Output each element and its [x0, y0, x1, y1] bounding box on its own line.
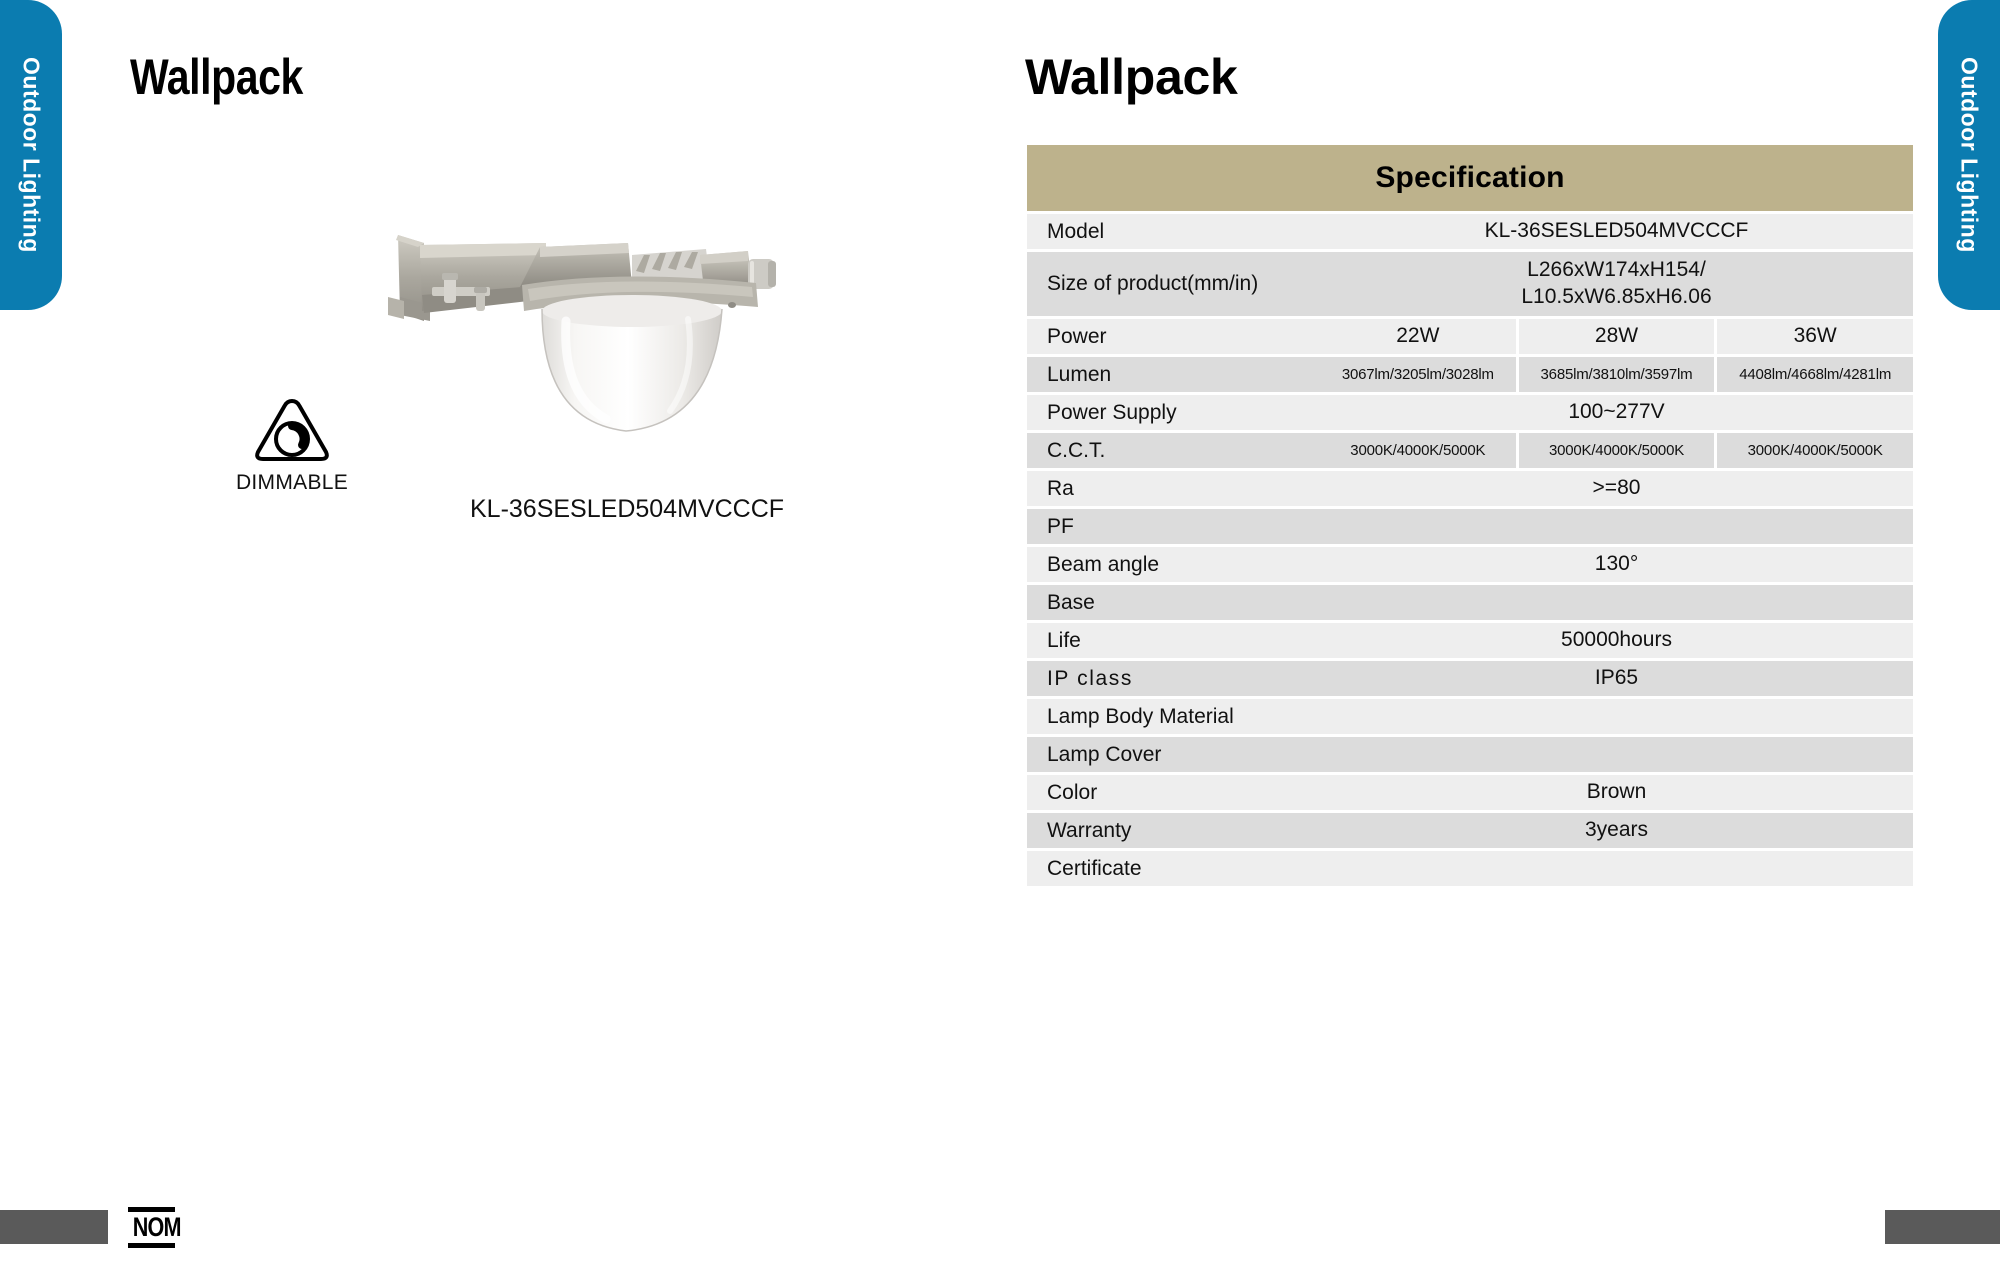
product-image — [370, 225, 800, 455]
spec-row: Lumen3067lm/3205lm/3028lm3685lm/3810lm/3… — [1027, 357, 1913, 392]
spec-row-value — [1320, 851, 1913, 886]
spec-row-values — [1320, 737, 1913, 772]
spec-row-label: Beam angle — [1027, 547, 1320, 582]
spec-row-label: Model — [1027, 214, 1320, 249]
page-title-left: Wallpack — [130, 48, 303, 106]
spec-row-value: 3000K/4000K/5000K — [1717, 433, 1913, 468]
spec-row-value: 36W — [1717, 319, 1913, 354]
spec-row-value: 3years — [1320, 813, 1913, 848]
side-tab-right: Outdoor Lighting — [1938, 0, 2000, 310]
specification-table-body: ModelKL-36SESLED504MVCCCFSize of product… — [1027, 214, 1913, 886]
spec-row: Ra>=80 — [1027, 471, 1913, 506]
spec-row-value: 3067lm/3205lm/3028lm — [1320, 357, 1516, 392]
spec-row: Power22W28W36W — [1027, 319, 1913, 354]
spec-row-values: 3years — [1320, 813, 1913, 848]
spec-row-label: PF — [1027, 509, 1320, 544]
spec-row: Lamp Body Material — [1027, 699, 1913, 734]
spec-row-values: KL-36SESLED504MVCCCF — [1320, 214, 1913, 249]
spec-row-label: Size of product(mm/in) — [1027, 252, 1320, 316]
spec-row-value: 3000K/4000K/5000K — [1519, 433, 1715, 468]
spec-row-label: Power — [1027, 319, 1320, 354]
spec-row: ColorBrown — [1027, 775, 1913, 810]
spec-row: Base — [1027, 585, 1913, 620]
spec-row-value — [1320, 509, 1913, 544]
spec-row-value: IP65 — [1320, 661, 1913, 696]
spec-row-values — [1320, 699, 1913, 734]
spec-row: IP classIP65 — [1027, 661, 1913, 696]
spec-row-label: Power Supply — [1027, 395, 1320, 430]
spec-row-value — [1320, 699, 1913, 734]
spec-row-values: L266xW174xH154/ L10.5xW6.85xH6.06 — [1320, 252, 1913, 316]
footer-bar-left — [0, 1210, 108, 1244]
spec-row-label: Lamp Cover — [1027, 737, 1320, 772]
spec-row-label: Certificate — [1027, 851, 1320, 886]
spec-row-values: 3000K/4000K/5000K3000K/4000K/5000K3000K/… — [1320, 433, 1913, 468]
spec-row-value: 130° — [1320, 547, 1913, 582]
spec-row-values: 100~277V — [1320, 395, 1913, 430]
specification-table-title: Specification — [1375, 161, 1564, 195]
product-model-label: KL-36SESLED504MVCCCF — [470, 495, 784, 524]
spec-row-value — [1320, 585, 1913, 620]
side-tab-left-label: Outdoor Lighting — [20, 57, 43, 253]
spec-row: Beam angle130° — [1027, 547, 1913, 582]
spec-row-values: 22W28W36W — [1320, 319, 1913, 354]
spec-row-value: 22W — [1320, 319, 1516, 354]
spec-row-value: L266xW174xH154/ L10.5xW6.85xH6.06 — [1320, 252, 1913, 316]
dimmable-icon — [250, 395, 334, 467]
spec-row-values: IP65 — [1320, 661, 1913, 696]
spec-row-values: 130° — [1320, 547, 1913, 582]
dimmable-label: DIMMABLE — [232, 471, 352, 495]
nom-logo: NOM — [128, 1207, 175, 1248]
spec-row-value: 3000K/4000K/5000K — [1320, 433, 1516, 468]
footer-bar-right — [1885, 1210, 2000, 1244]
spec-row-label: Base — [1027, 585, 1320, 620]
spec-row: Power Supply100~277V — [1027, 395, 1913, 430]
spec-row-values: 3067lm/3205lm/3028lm3685lm/3810lm/3597lm… — [1320, 357, 1913, 392]
page-title-right: Wallpack — [1025, 48, 1238, 106]
spec-row: Certificate — [1027, 851, 1913, 886]
side-tab-right-label: Outdoor Lighting — [1958, 57, 1981, 253]
dimmable-badge: DIMMABLE — [232, 395, 352, 495]
page-root: Outdoor Lighting Outdoor Lighting Wallpa… — [0, 0, 2000, 1282]
spec-row: Size of product(mm/in)L266xW174xH154/ L1… — [1027, 252, 1913, 316]
spec-row-value — [1320, 737, 1913, 772]
spec-row-value: 28W — [1519, 319, 1715, 354]
spec-row-value: 3685lm/3810lm/3597lm — [1519, 357, 1715, 392]
spec-row-label: Ra — [1027, 471, 1320, 506]
spec-row-value: 4408lm/4668lm/4281lm — [1717, 357, 1913, 392]
spec-row-value: 50000hours — [1320, 623, 1913, 658]
side-tab-left: Outdoor Lighting — [0, 0, 62, 310]
spec-row: Lamp Cover — [1027, 737, 1913, 772]
spec-row-value: Brown — [1320, 775, 1913, 810]
spec-row-label: C.C.T. — [1027, 433, 1320, 468]
spec-row: PF — [1027, 509, 1913, 544]
spec-row-value: 100~277V — [1320, 395, 1913, 430]
spec-row-label: Lamp Body Material — [1027, 699, 1320, 734]
spec-row: C.C.T.3000K/4000K/5000K3000K/4000K/5000K… — [1027, 433, 1913, 468]
spec-row: Life50000hours — [1027, 623, 1913, 658]
spec-row-label: Lumen — [1027, 357, 1320, 392]
spec-row-values — [1320, 509, 1913, 544]
spec-row-values: >=80 — [1320, 471, 1913, 506]
spec-row-value: >=80 — [1320, 471, 1913, 506]
spec-row-label: Life — [1027, 623, 1320, 658]
spec-row-values: Brown — [1320, 775, 1913, 810]
spec-row-values: 50000hours — [1320, 623, 1913, 658]
spec-row-label: Color — [1027, 775, 1320, 810]
nom-logo-text: NOM — [133, 1214, 171, 1241]
specification-table-header: Specification — [1027, 145, 1913, 211]
spec-row: ModelKL-36SESLED504MVCCCF — [1027, 214, 1913, 249]
spec-row-values — [1320, 585, 1913, 620]
specification-table: Specification ModelKL-36SESLED504MVCCCFS… — [1027, 145, 1913, 889]
spec-row: Warranty3years — [1027, 813, 1913, 848]
spec-row-values — [1320, 851, 1913, 886]
spec-row-label: IP class — [1027, 661, 1320, 696]
spec-row-value: KL-36SESLED504MVCCCF — [1320, 214, 1913, 249]
nom-logo-rule-bottom — [128, 1243, 175, 1248]
spec-row-label: Warranty — [1027, 813, 1320, 848]
